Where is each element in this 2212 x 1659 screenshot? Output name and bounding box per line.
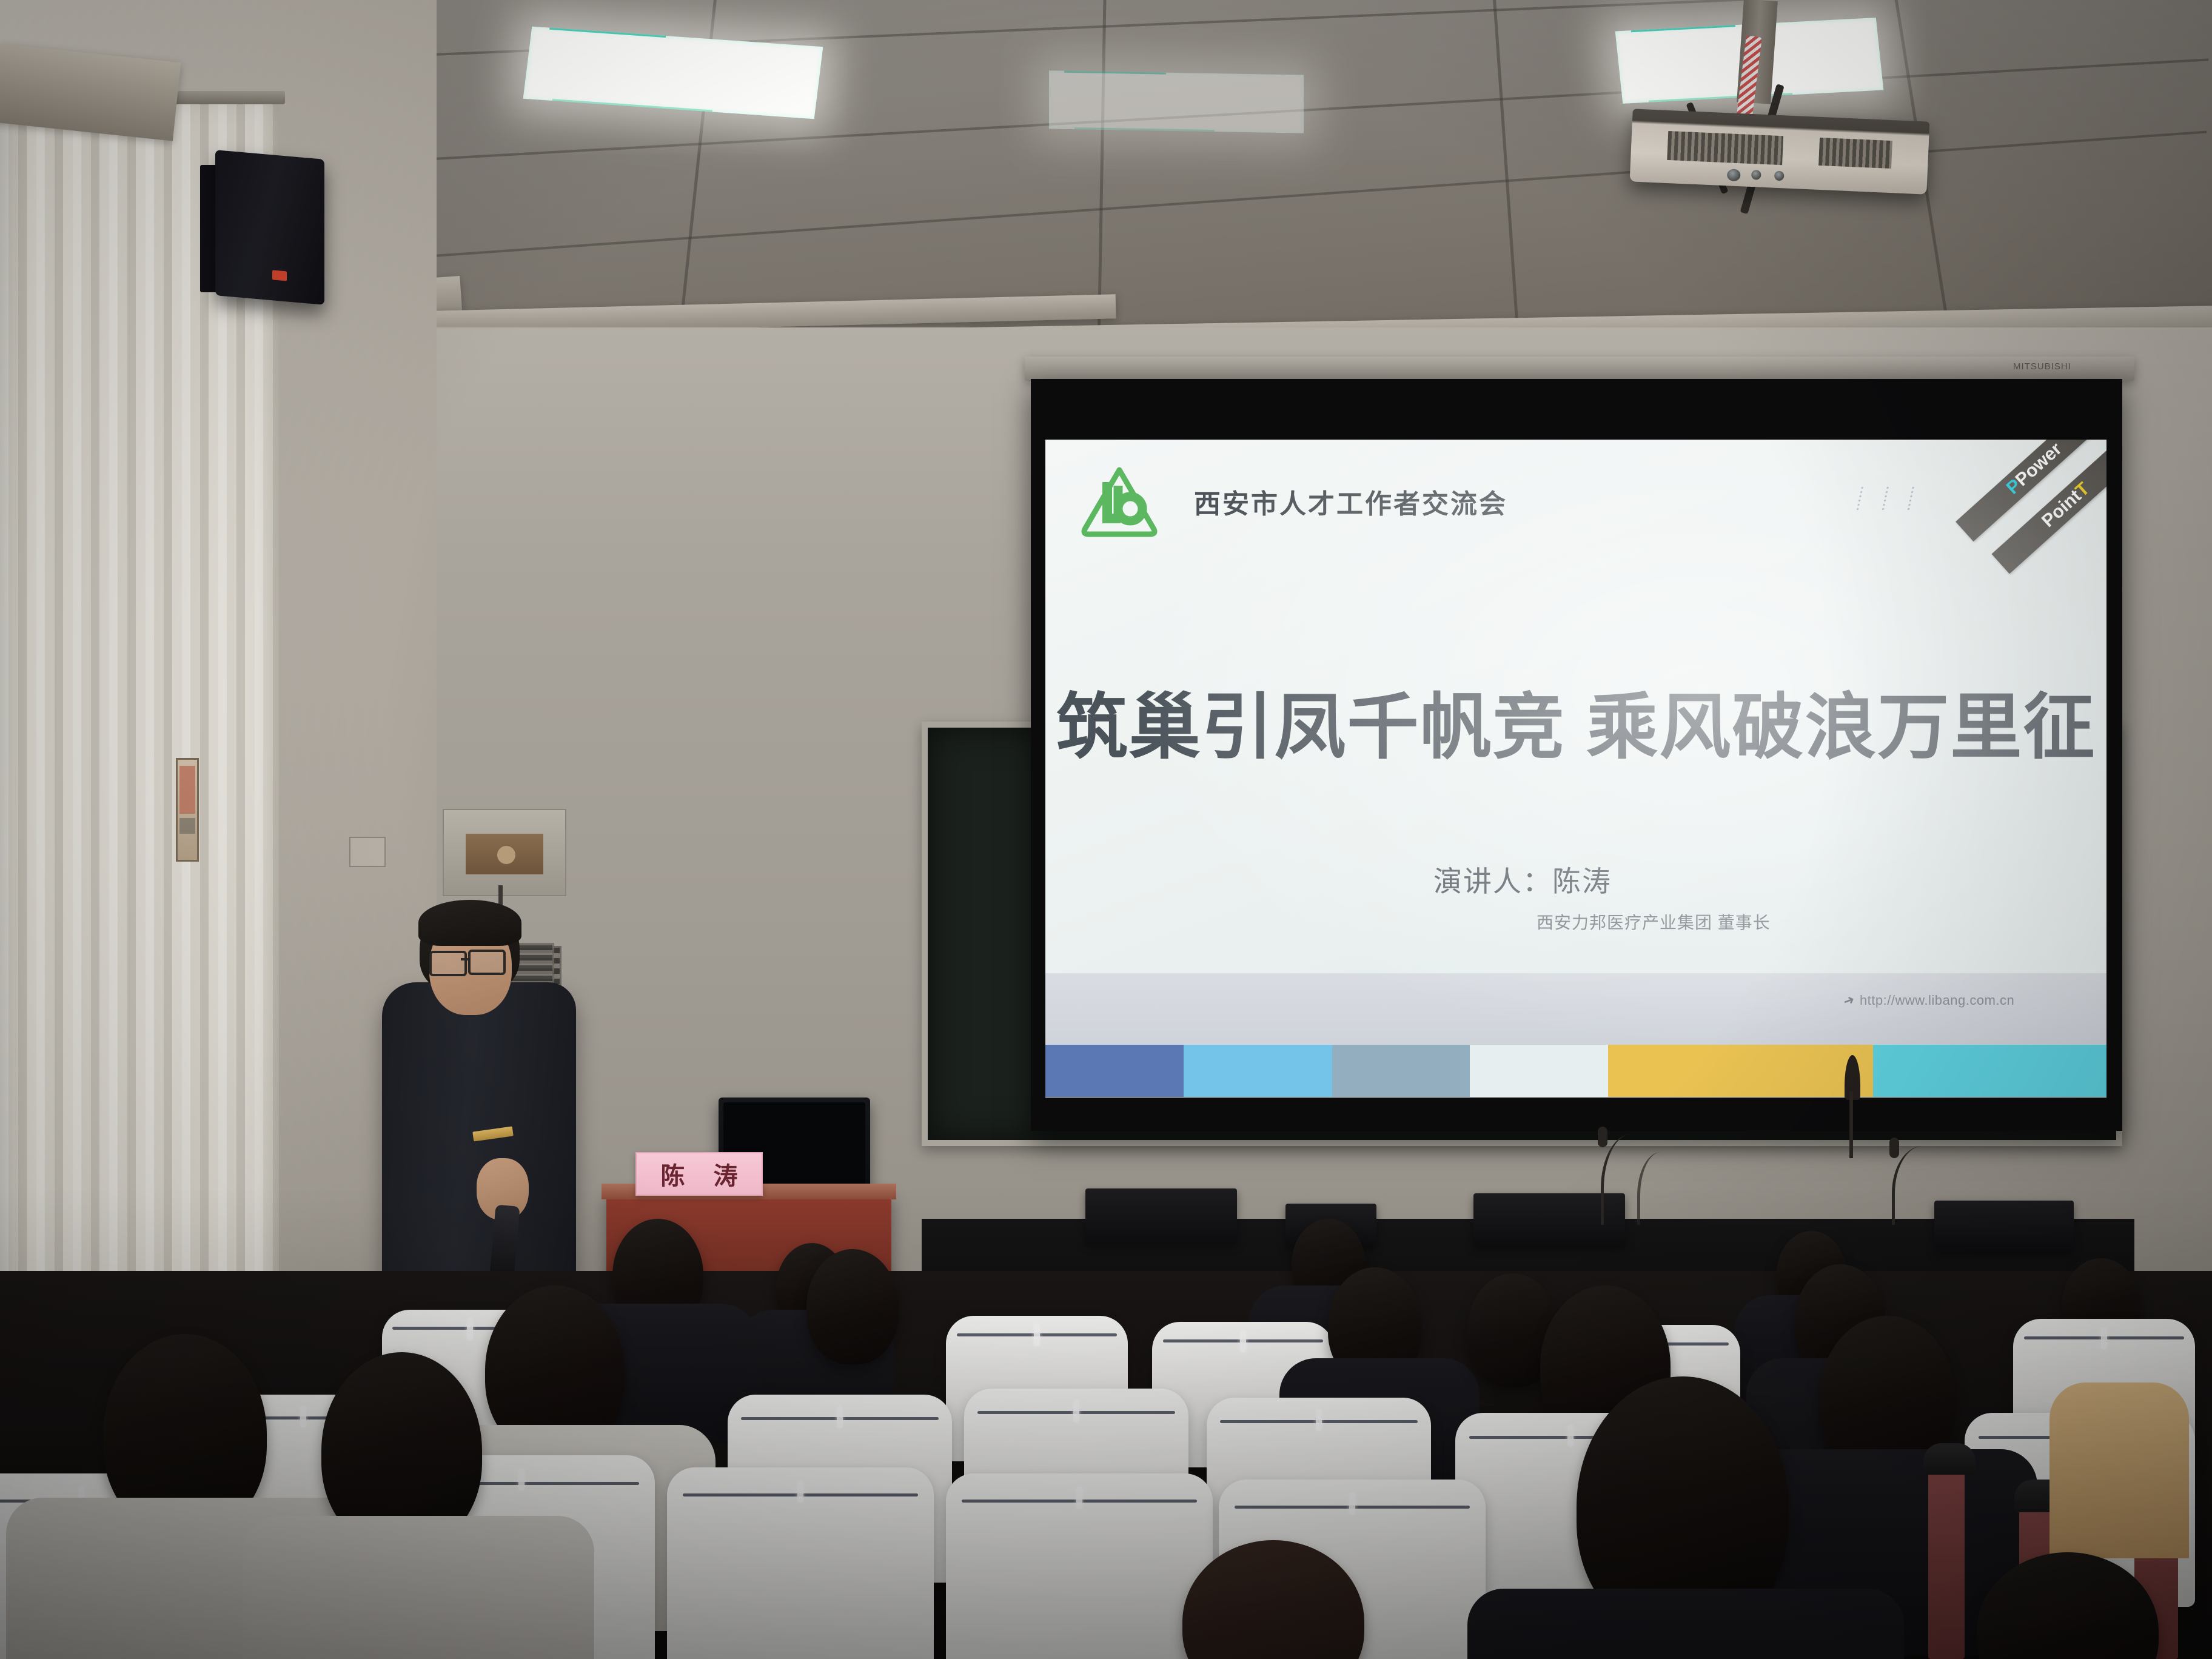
theater-seat-armrest	[1923, 1443, 1976, 1475]
projector-vent	[1667, 131, 1783, 165]
podium-name-card-text: 陈 涛	[649, 1156, 748, 1191]
speaker-brand-logo	[272, 270, 287, 281]
presenter-glasses-left	[429, 951, 467, 976]
audience-shoulders	[1467, 1589, 1904, 1659]
outlet-knob	[497, 846, 515, 864]
projector-vent	[1818, 138, 1892, 169]
chevron-right-icon	[1881, 486, 1902, 510]
theater-seat-frame	[1928, 1455, 1965, 1659]
presenter-glasses-right	[468, 950, 506, 975]
sign-red-band	[179, 766, 196, 814]
wall-speaker	[215, 150, 324, 305]
color-swatch-gold	[1608, 1045, 1874, 1097]
color-swatch-cyan	[1873, 1045, 2106, 1097]
color-swatch-navy-blue	[1045, 1045, 1184, 1097]
paper-plane-icon: ➜	[1841, 991, 1857, 1010]
projection-screen-housing	[1025, 357, 2134, 381]
color-swatch-pale-white	[1470, 1045, 1608, 1097]
slide-url: ➜http://www.libang.com.cn	[1843, 993, 2014, 1008]
wall-switch[interactable]	[349, 837, 386, 867]
projector-indicator-light	[1774, 171, 1785, 181]
powerpoint-badge-word-one: Power	[2012, 440, 2066, 491]
slide-presenter-line: 演讲人：陈涛	[1433, 858, 1612, 900]
powerpoint-badge: PPower PointT	[1955, 440, 2106, 579]
ceiling-light-panel	[1049, 70, 1304, 133]
projection-screen: 西安市人才工作者交流会 PPower PointT 筑巢引凤千帆竞 乘风破浪万里…	[1031, 379, 2122, 1131]
presenter-hair-top	[418, 900, 521, 946]
chevron-decoration	[1858, 486, 1925, 510]
audience-head	[806, 1249, 899, 1364]
microphone-stem	[1849, 1091, 1853, 1158]
chevron-right-icon	[1855, 486, 1877, 510]
audience-shoulders	[243, 1516, 594, 1659]
gooseneck-microphone-head	[1598, 1127, 1607, 1147]
table-equipment-box	[1934, 1201, 2074, 1252]
projector-indicator-light	[1751, 170, 1761, 180]
ceiling-projector	[1630, 109, 1930, 194]
color-swatch-sky-blue	[1184, 1045, 1332, 1097]
audience-shoulders	[2049, 1382, 2189, 1558]
gooseneck-microphone-head	[1889, 1138, 1899, 1158]
projector-lens	[1727, 169, 1741, 181]
slide-color-strip	[1045, 1045, 2106, 1097]
slide-header-text: 西安市人才工作者交流会	[1194, 482, 1507, 521]
color-swatch-steel-blue	[1332, 1045, 1470, 1097]
audience-seat[interactable]	[946, 1473, 1213, 1659]
slide-footer-band	[1045, 973, 2106, 1045]
podium-name-card: 陈 涛	[635, 1152, 763, 1196]
lb-logo-icon	[1081, 465, 1158, 539]
wall-safety-sign	[176, 758, 199, 862]
chevron-right-icon	[1906, 486, 1928, 510]
slide-url-text: http://www.libang.com.cn	[1860, 993, 2014, 1008]
screen-brand-label: MITSUBISHI	[2013, 361, 2071, 372]
slide-organization-line: 西安力邦医疗产业集团 董事长	[1537, 910, 1771, 934]
conference-hall-scene: MITSUBISHI 西安市人才工作者交流会	[0, 0, 2212, 1659]
slide-title: 筑巢引凤千帆竞 乘风破浪万里征	[1045, 669, 2106, 773]
projected-slide: 西安市人才工作者交流会 PPower PointT 筑巢引凤千帆竞 乘风破浪万里…	[1045, 440, 2106, 1098]
audience-seat[interactable]	[667, 1467, 934, 1659]
sign-grey-band	[179, 818, 196, 834]
table-equipment-box	[1085, 1188, 1237, 1243]
wall-outlet-plate[interactable]	[443, 809, 566, 896]
presenter-glasses-bridge	[461, 958, 471, 960]
